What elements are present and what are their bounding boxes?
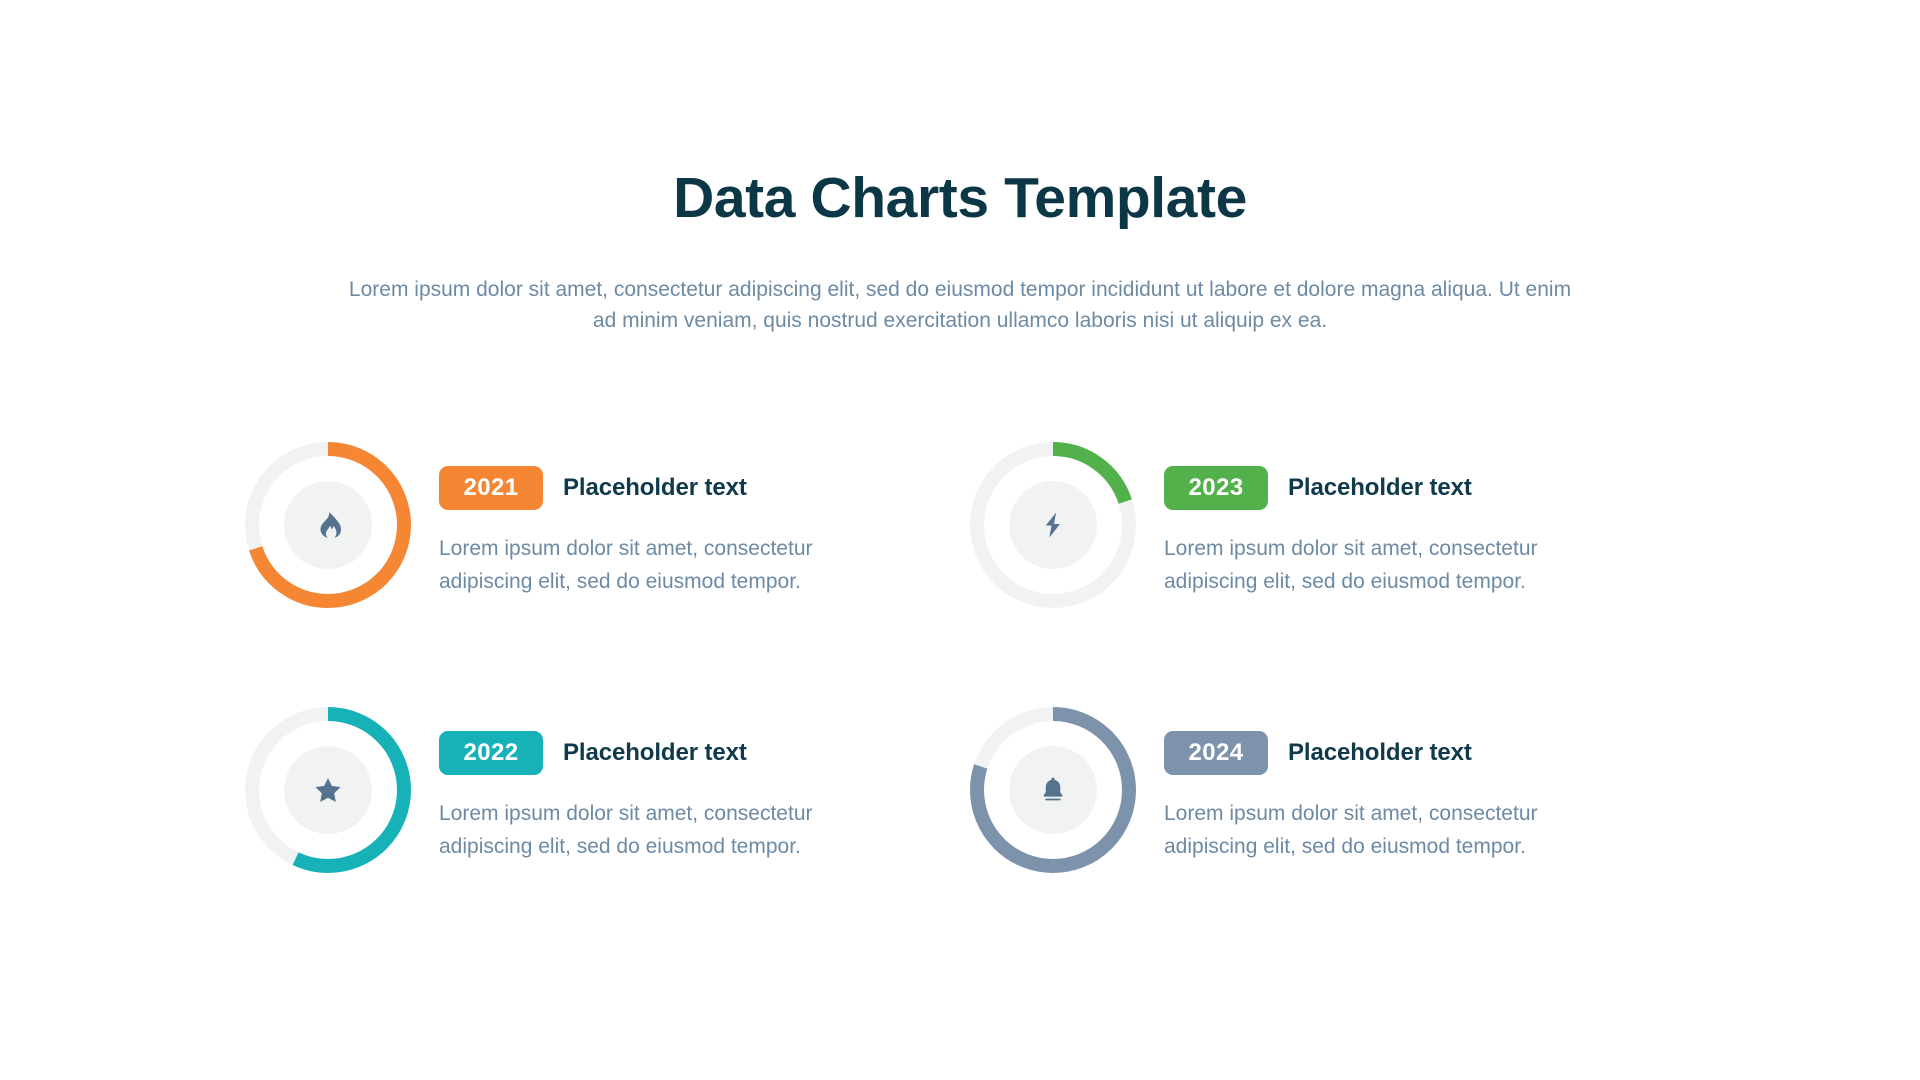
donut-center (1009, 746, 1097, 834)
item-content: 2022 Placeholder text Lorem ipsum dolor … (411, 705, 970, 863)
item-content: 2023 Placeholder text Lorem ipsum dolor … (1136, 440, 1695, 598)
page-title: Data Charts Template (0, 168, 1920, 230)
item-description: Lorem ipsum dolor sit amet, consectetur … (1164, 797, 1634, 863)
page-subtitle: Lorem ipsum dolor sit amet, consectetur … (335, 274, 1585, 338)
donut-item[interactable]: 2021 Placeholder text Lorem ipsum dolor … (245, 440, 970, 705)
donut-chart[interactable] (245, 707, 411, 873)
bell-icon (1038, 775, 1068, 805)
item-header-row: 2021 Placeholder text (439, 466, 970, 510)
year-badge[interactable]: 2021 (439, 466, 543, 510)
item-heading: Placeholder text (1288, 739, 1472, 767)
year-badge[interactable]: 2022 (439, 731, 543, 775)
donut-item[interactable]: 2022 Placeholder text Lorem ipsum dolor … (245, 705, 970, 970)
year-badge[interactable]: 2024 (1164, 731, 1268, 775)
item-header-row: 2022 Placeholder text (439, 731, 970, 775)
item-content: 2024 Placeholder text Lorem ipsum dolor … (1136, 705, 1695, 863)
item-content: 2021 Placeholder text Lorem ipsum dolor … (411, 440, 970, 598)
donut-center (1009, 481, 1097, 569)
bolt-icon (1038, 510, 1068, 540)
donut-center (284, 746, 372, 834)
slide-canvas: Data Charts Template Lorem ipsum dolor s… (0, 0, 1920, 1080)
item-header-row: 2024 Placeholder text (1164, 731, 1695, 775)
item-heading: Placeholder text (563, 474, 747, 502)
donut-chart[interactable] (970, 707, 1136, 873)
item-description: Lorem ipsum dolor sit amet, consectetur … (439, 797, 909, 863)
item-heading: Placeholder text (563, 739, 747, 767)
donut-center (284, 481, 372, 569)
flame-icon (313, 510, 343, 540)
item-description: Lorem ipsum dolor sit amet, consectetur … (439, 532, 909, 598)
item-heading: Placeholder text (1288, 474, 1472, 502)
donut-item[interactable]: 2024 Placeholder text Lorem ipsum dolor … (970, 705, 1695, 970)
header: Data Charts Template Lorem ipsum dolor s… (0, 168, 1920, 337)
donut-item[interactable]: 2023 Placeholder text Lorem ipsum dolor … (970, 440, 1695, 705)
item-description: Lorem ipsum dolor sit amet, consectetur … (1164, 532, 1634, 598)
donut-items-grid: 2021 Placeholder text Lorem ipsum dolor … (245, 440, 1695, 970)
star-icon (313, 775, 343, 805)
donut-chart[interactable] (970, 442, 1136, 608)
donut-chart[interactable] (245, 442, 411, 608)
item-header-row: 2023 Placeholder text (1164, 466, 1695, 510)
year-badge[interactable]: 2023 (1164, 466, 1268, 510)
